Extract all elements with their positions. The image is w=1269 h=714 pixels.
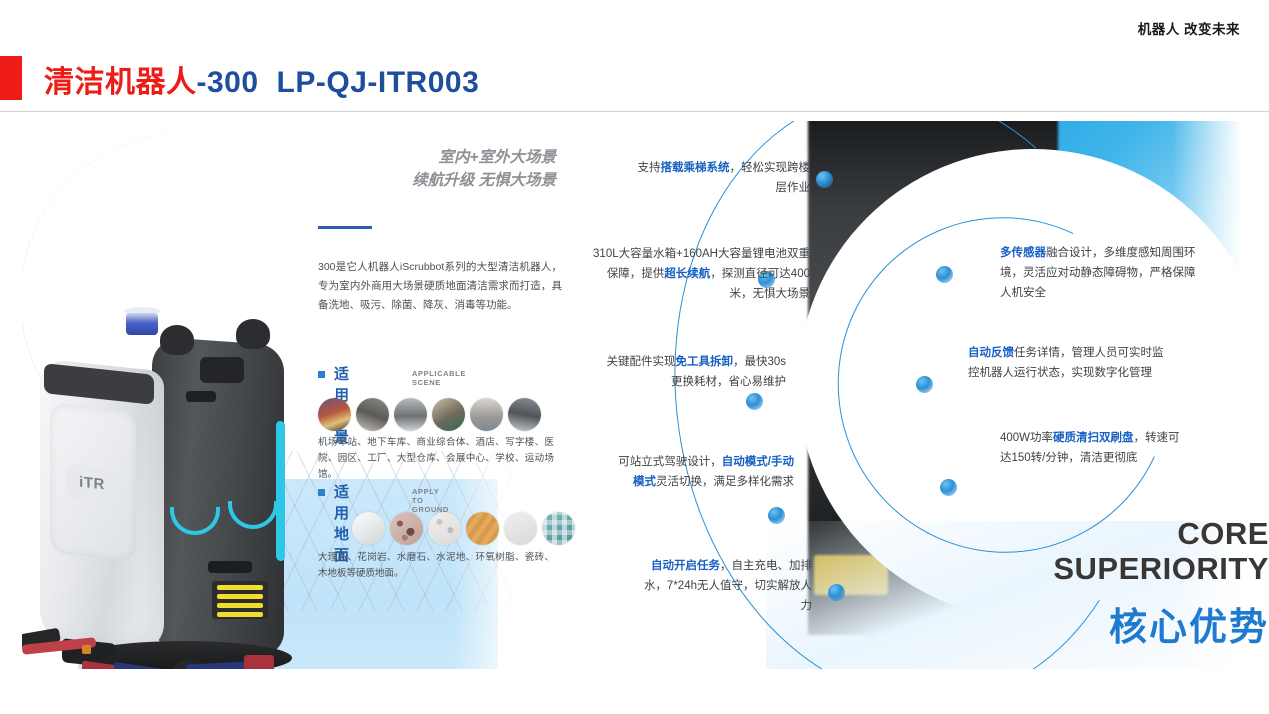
title-accent-bar bbox=[0, 56, 22, 100]
section-title-en: APPLICABLE SCENE bbox=[412, 369, 466, 387]
bullet-square-icon bbox=[318, 371, 325, 378]
robot-camera bbox=[186, 391, 216, 402]
arc-dot-8 bbox=[940, 479, 957, 496]
arc-dot-5 bbox=[828, 584, 845, 601]
brand-tagline: 机器人 改变未来 bbox=[1138, 18, 1240, 38]
core-en-line-2: SUPERIORITY bbox=[1017, 551, 1269, 586]
feature-dual-brush-disc: 400W功率硬质清扫双刷盘，转速可达150转/分钟，清洁更彻底 bbox=[1000, 428, 1186, 468]
commercial-complex-icon bbox=[394, 398, 427, 431]
feature-toolless-disassembly: 关键配件实现免工具拆卸，最快30s更换耗材，省心易维护 bbox=[600, 352, 786, 392]
title-code: LP-QJ-ITR003 bbox=[277, 66, 480, 99]
robot-sensor-left bbox=[160, 325, 194, 355]
bullet-square-icon bbox=[318, 489, 325, 496]
terrazzo-icon bbox=[428, 512, 461, 545]
slogan-line-1: 室内+室外大场景 bbox=[386, 146, 556, 169]
feature-highlight: 免工具拆卸 bbox=[675, 356, 733, 368]
slide-root: 机器人 改变未来 清洁机器人-300LP-QJ-ITR003 iTR bbox=[0, 0, 1269, 714]
arc-dot-1 bbox=[816, 171, 833, 188]
feature-battery-water-tank: 310L大容量水箱+160AH大容量锂电池双重保障，提供超长续航，探测直径可达4… bbox=[590, 244, 810, 304]
feature-driving-modes: 可站立式驾驶设计，自动模式/手动模式灵活切换，满足多样化需求 bbox=[618, 452, 794, 492]
scene-icon-row bbox=[318, 398, 541, 431]
feature-highlight: 硬质清扫双刷盘 bbox=[1053, 432, 1134, 444]
arc-dot-6 bbox=[936, 266, 953, 283]
panel-fade-overlay bbox=[452, 121, 562, 669]
robot-beacon-light bbox=[126, 313, 158, 335]
robot-screen bbox=[200, 357, 244, 383]
airport-station-icon bbox=[318, 398, 351, 431]
ground-caption: 大理石、花岗岩、水磨石、水泥地、环氧树脂、瓷砖、木地板等硬质地面。 bbox=[318, 550, 554, 582]
robot-bumper-red-right bbox=[244, 655, 274, 669]
arc-dot-3 bbox=[746, 393, 763, 410]
robot-light-strip-right bbox=[276, 421, 285, 562]
arc-dot-7 bbox=[916, 376, 933, 393]
section-title-en: APPLY TO GROUND bbox=[412, 487, 449, 514]
feature-prefix: 400W功率 bbox=[1000, 432, 1053, 444]
underground-garage-icon bbox=[356, 398, 389, 431]
page-title: 清洁机器人-300LP-QJ-ITR003 bbox=[44, 57, 479, 101]
hospital-icon bbox=[508, 398, 541, 431]
feature-highlight: 搭载乘梯系统 bbox=[661, 162, 730, 174]
granite-icon bbox=[390, 512, 423, 545]
feature-multi-sensor-fusion: 多传感器融合设计，多维度感知周围环境，灵活应对动静态障碍物，严格保障人机安全 bbox=[1000, 243, 1205, 303]
feature-suffix: ，轻松实现跨楼层作业 bbox=[730, 162, 811, 194]
header-divider bbox=[0, 111, 1269, 112]
ground-icon-row bbox=[352, 512, 575, 545]
product-photo-panel: iTR bbox=[22, 121, 562, 669]
scene-caption: 机场车站、地下车库、商业综合体、酒店、写字楼、医院、园区、工厂、大型仓库、会展中… bbox=[318, 435, 554, 483]
core-en-line-1: CORE bbox=[1017, 516, 1269, 551]
product-description: 300是它人机器人iScrubbot系列的大型清洁机器人，专为室内外商用大场景硬… bbox=[318, 258, 562, 315]
feature-highlight: 自动开启任务 bbox=[651, 560, 720, 572]
robot-sensor-right bbox=[236, 319, 270, 349]
feature-prefix: 可站立式驾驶设计， bbox=[618, 456, 722, 468]
right-fade-overlay bbox=[1172, 121, 1269, 669]
feature-auto-task: 自动开启任务，自主充电、加排水，7*24h无人值守，切实解放人力 bbox=[634, 556, 812, 616]
feature-suffix: 灵活切换，满足多样化需求 bbox=[656, 476, 794, 488]
feature-highlight: 自动反馈 bbox=[968, 347, 1014, 359]
robot-brand-logo: iTR bbox=[66, 463, 118, 502]
feature-suffix: ，探测直径可达400米，无惧大场景 bbox=[710, 268, 810, 300]
feature-prefix: 关键配件实现 bbox=[606, 356, 675, 368]
epoxy-resin-icon bbox=[504, 512, 537, 545]
feature-highlight: 超长续航 bbox=[664, 268, 710, 280]
office-building-icon bbox=[470, 398, 503, 431]
title-model: -300 bbox=[197, 66, 259, 99]
product-slogan: 室内+室外大场景 续航升级 无惧大场景 bbox=[386, 146, 556, 192]
feature-auto-feedback: 自动反馈任务详情，管理人员可实时监控机器人运行状态，实现数字化管理 bbox=[968, 343, 1164, 383]
slogan-underline bbox=[318, 226, 372, 229]
arc-dot-4 bbox=[768, 507, 785, 524]
hotel-icon bbox=[432, 398, 465, 431]
marble-icon bbox=[352, 512, 385, 545]
feature-highlight: 多传感器 bbox=[1000, 247, 1046, 259]
robot-indicator bbox=[82, 645, 91, 654]
robot-lower-camera bbox=[208, 561, 252, 573]
core-superiority-heading-cn: 核心优势 bbox=[1017, 596, 1269, 651]
feature-elevator-system: 支持搭载乘梯系统，轻松实现跨楼层作业 bbox=[630, 158, 810, 198]
cement-icon bbox=[466, 512, 499, 545]
title-cn: 清洁机器人 bbox=[44, 66, 197, 99]
cleaning-robot-illustration: iTR bbox=[40, 311, 300, 669]
tile-icon bbox=[542, 512, 575, 545]
slogan-line-2: 续航升级 无惧大场景 bbox=[386, 169, 556, 192]
feature-prefix: 支持 bbox=[638, 162, 661, 174]
core-superiority-heading-en: CORE SUPERIORITY bbox=[1017, 516, 1269, 586]
robot-yellow-grille bbox=[212, 581, 268, 619]
